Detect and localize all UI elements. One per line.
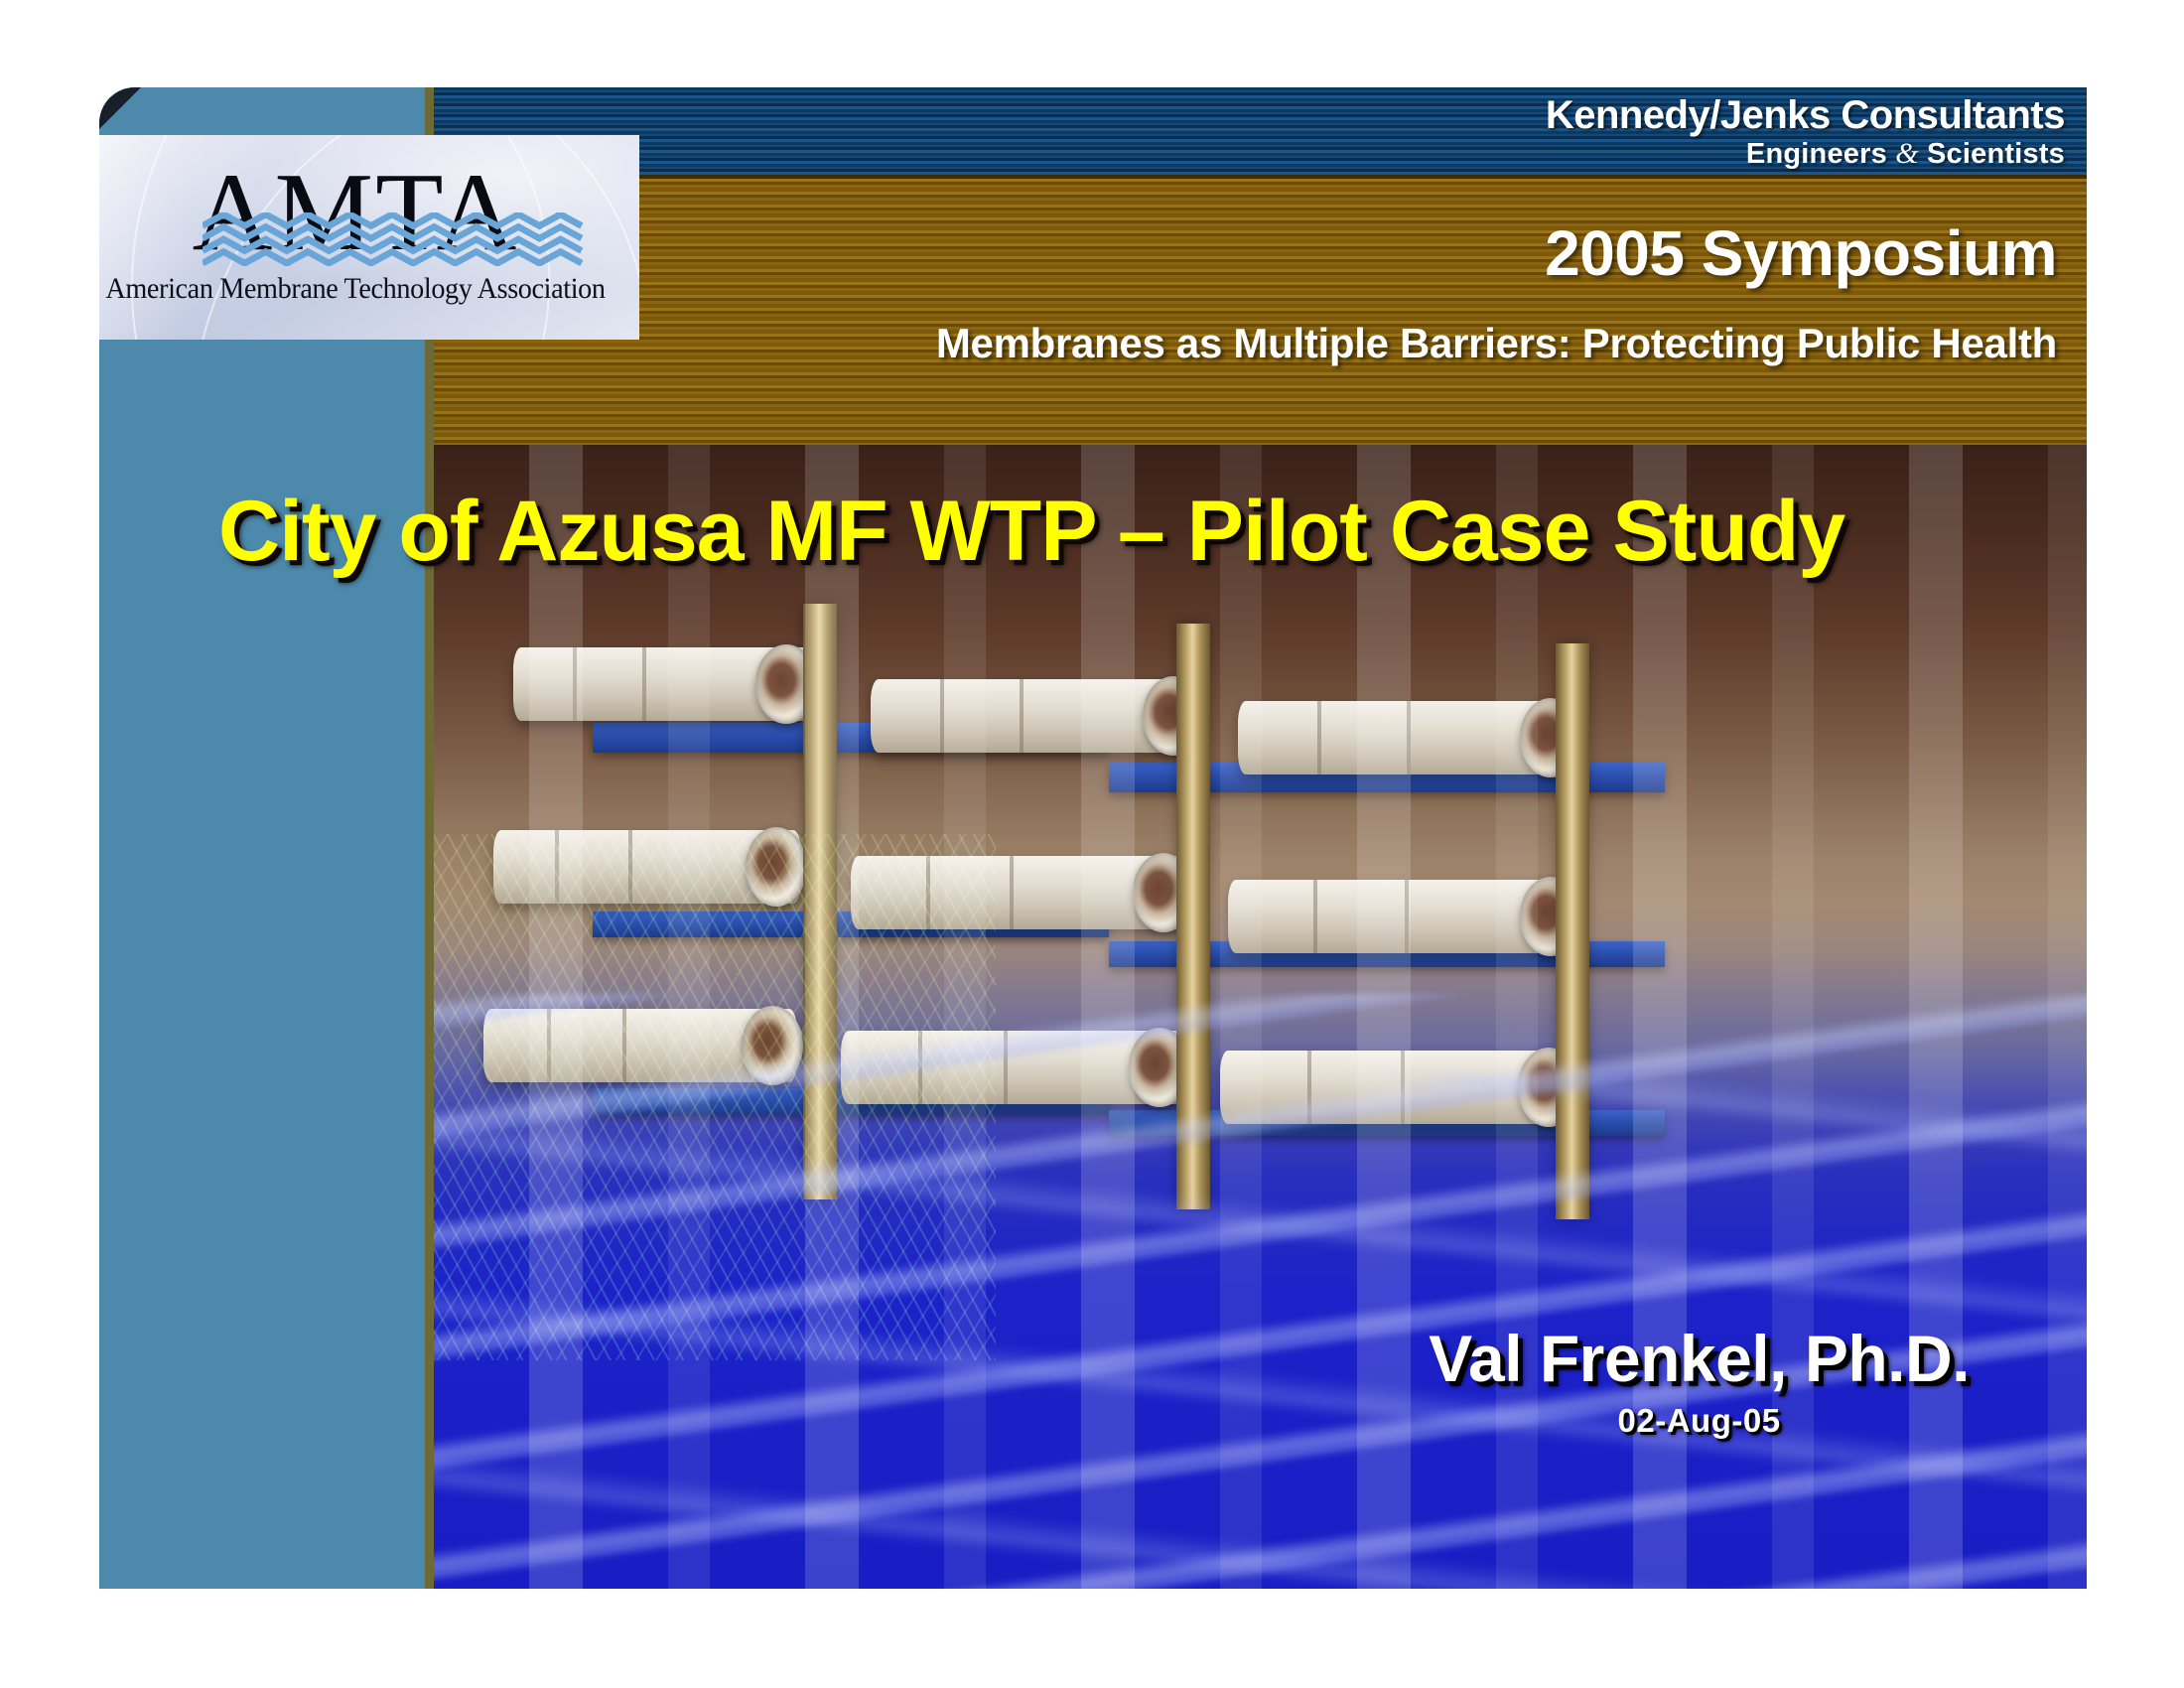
event-banner: 2005 Symposium Membranes as Multiple Bar…	[434, 175, 2087, 450]
event-theme: Membranes as Multiple Barriers: Protecti…	[936, 320, 2057, 367]
company-name: Kennedy/Jenks Consultants	[1546, 93, 2065, 138]
presentation-date: 02-Aug-05	[1429, 1402, 1970, 1440]
company-tagline: Engineers & Scientists	[1746, 137, 2065, 171]
event-title: 2005 Symposium	[1545, 216, 2057, 290]
amta-acronym: AMTA	[193, 151, 519, 274]
presenter-name: Val Frenkel, Ph.D.	[1429, 1321, 1970, 1396]
amta-logo-plate: AMTA American Membrane Technology Associ…	[99, 135, 639, 340]
amta-logo: AMTA American Membrane Technology Associ…	[99, 157, 639, 306]
presentation-slide: Kennedy/Jenks Consultants Engineers & Sc…	[99, 87, 2087, 1589]
company-tagline-suffix: Scientists	[1927, 138, 2065, 170]
amta-acronym-wrapper: AMTA	[193, 157, 519, 268]
company-header-band: Kennedy/Jenks Consultants Engineers & Sc…	[434, 87, 2087, 175]
page-title: City of Azusa MF WTP – Pilot Case Study	[218, 483, 2065, 581]
amta-full-name: American Membrane Technology Association	[99, 272, 622, 306]
ampersand-glyph: &	[1895, 137, 1919, 170]
company-tagline-prefix: Engineers	[1746, 138, 1887, 170]
presenter-block: Val Frenkel, Ph.D. 02-Aug-05	[1429, 1321, 1970, 1440]
